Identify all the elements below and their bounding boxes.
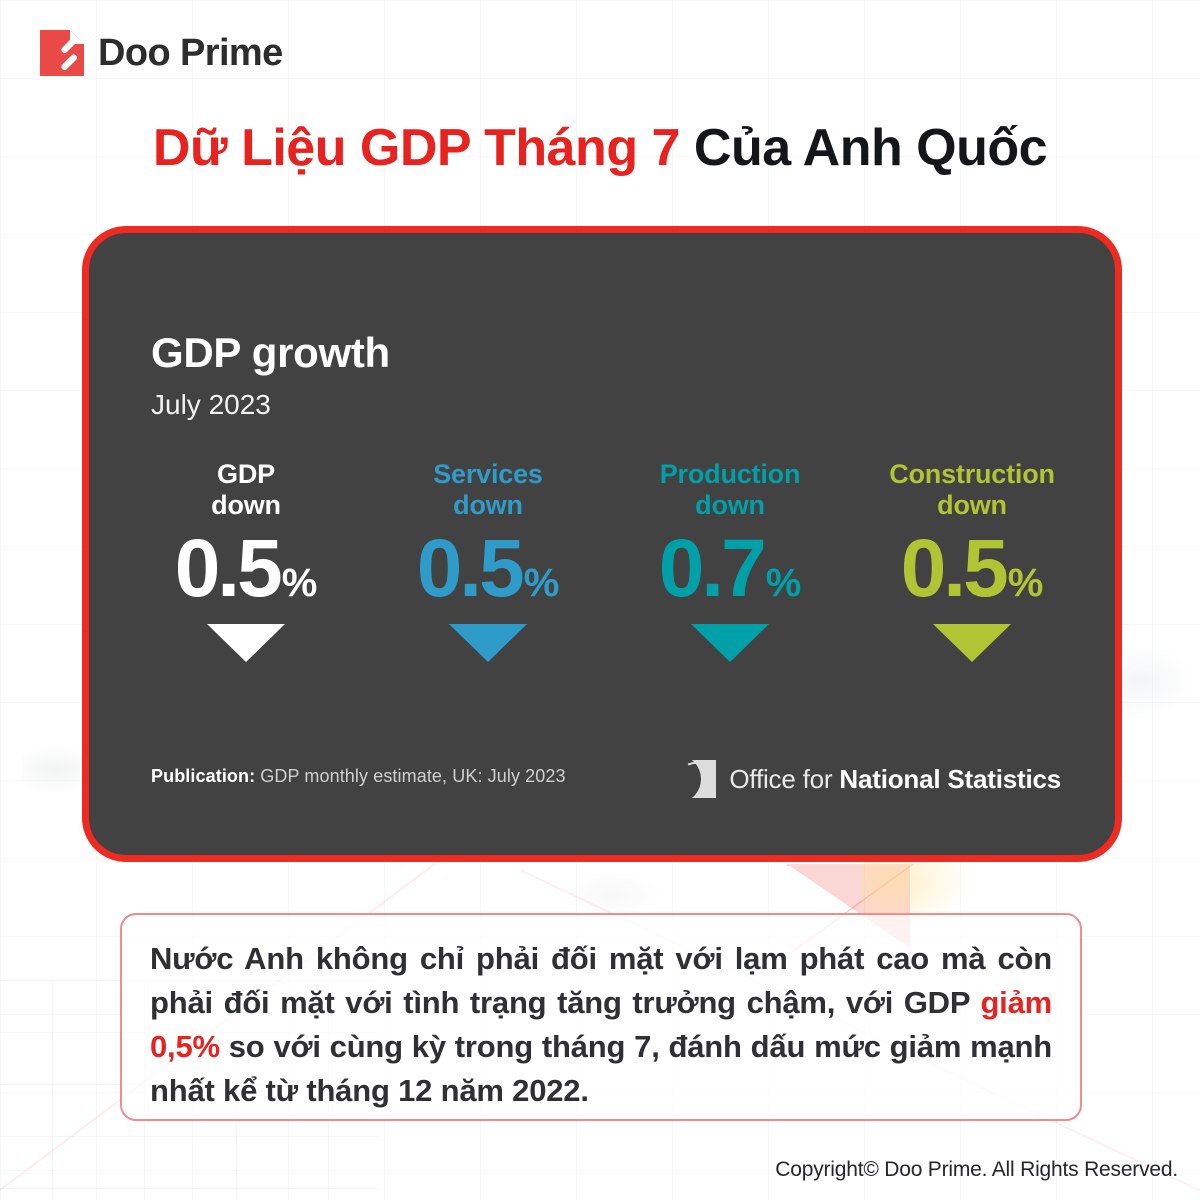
card-title: GDP growth	[151, 329, 390, 377]
doo-prime-logo-icon	[40, 30, 84, 76]
page-title-dark-part: Của Anh Quốc	[680, 119, 1047, 177]
metric-production-value: 0.7 %	[609, 528, 851, 610]
metric-gdp-number: 0.5	[175, 528, 280, 610]
brand-header: Doo Prime	[40, 30, 283, 76]
publication-value: GDP monthly estimate, UK: July 2023	[255, 766, 565, 786]
metric-gdp: GDP down 0.5 %	[125, 459, 367, 662]
metric-services-number: 0.5	[417, 528, 522, 610]
metrics-row: GDP down 0.5 % Services down 0.5 % Produ…	[125, 459, 1093, 662]
publication-label: Publication:	[151, 766, 255, 786]
ons-logo-text: Office for National Statistics	[729, 764, 1061, 795]
page-title-red-part: Dữ Liệu GDP Tháng 7	[153, 119, 680, 177]
metric-services-value: 0.5 %	[367, 528, 609, 610]
metric-services: Services down 0.5 %	[367, 459, 609, 662]
metric-construction: Construction down 0.5 %	[851, 459, 1093, 662]
metric-services-label: Services down	[367, 459, 609, 522]
metric-production-label: Production down	[609, 459, 851, 522]
publication-line: Publication: GDP monthly estimate, UK: J…	[151, 766, 566, 787]
ons-logo-text-bold: National Statistics	[839, 764, 1061, 794]
metric-gdp-unit: %	[282, 563, 318, 603]
card-subtitle: July 2023	[151, 389, 271, 421]
down-arrow-icon	[691, 624, 769, 662]
metric-construction-label: Construction down	[851, 459, 1093, 522]
metric-production-number: 0.7	[659, 528, 764, 610]
commentary-box: Nước Anh không chỉ phải đối mặt với lạm …	[120, 913, 1082, 1121]
ons-logo-text-light: Office for	[729, 764, 839, 794]
metric-construction-number: 0.5	[901, 528, 1006, 610]
copyright-notice: Copyright© Doo Prime. All Rights Reserve…	[775, 1158, 1178, 1182]
commentary-part-2: so với cùng kỳ trong tháng 7, đánh dấu m…	[150, 1029, 1052, 1108]
gdp-growth-card: GDP growth July 2023 GDP down 0.5 % Serv…	[82, 226, 1122, 862]
metric-gdp-value: 0.5 %	[125, 528, 367, 610]
commentary-text: Nước Anh không chỉ phải đối mặt với lạm …	[150, 937, 1052, 1113]
metric-gdp-label: GDP down	[125, 459, 367, 522]
commentary-part-1: Nước Anh không chỉ phải đối mặt với lạm …	[150, 941, 1052, 1020]
down-arrow-icon	[449, 624, 527, 662]
ons-logo: Office for National Statistics	[678, 760, 1061, 798]
down-arrow-icon	[207, 624, 285, 662]
metric-services-unit: %	[524, 563, 560, 603]
metric-production-unit: %	[766, 563, 802, 603]
ons-logo-icon	[678, 760, 716, 798]
metric-construction-unit: %	[1008, 563, 1044, 603]
metric-construction-value: 0.5 %	[851, 528, 1093, 610]
brand-name: Doo Prime	[98, 32, 283, 75]
metric-production: Production down 0.7 %	[609, 459, 851, 662]
page-title: Dữ Liệu GDP Tháng 7 Của Anh Quốc	[0, 118, 1200, 178]
down-arrow-icon	[933, 624, 1011, 662]
